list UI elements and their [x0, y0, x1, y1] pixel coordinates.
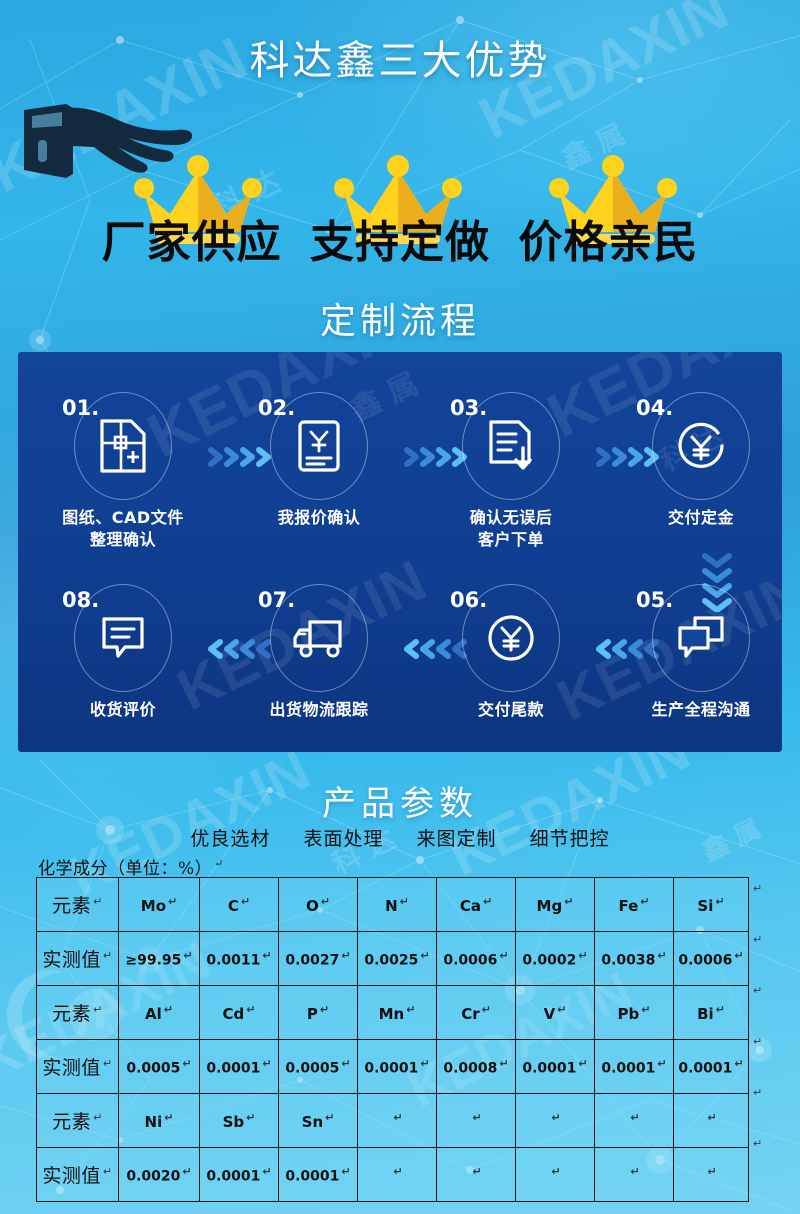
pilcrow-mark: ↵	[753, 1035, 762, 1048]
measured-value-cell: 0.0001↵	[674, 1040, 749, 1094]
element-cell: Si↵	[674, 878, 749, 932]
element-cell: V↵	[516, 986, 595, 1040]
table-row: 元素↵Al↵Cd↵P↵Mn↵Cr↵V↵Pb↵Bi↵	[37, 986, 749, 1040]
measured-value-cell: ≥99.95↵	[119, 932, 200, 986]
feature-tag-4: 细节把控	[530, 828, 610, 850]
yen-circle-icon	[484, 611, 538, 665]
delivery-truck-icon	[290, 614, 348, 662]
step-label: 交付尾款	[436, 699, 586, 721]
pilcrow-mark: ↵	[753, 1086, 762, 1099]
row-header-cell: 实测值↵	[37, 932, 119, 986]
element-cell: Fe↵	[595, 878, 674, 932]
pilcrow-mark: ↵	[753, 933, 762, 946]
row-header-cell: 元素↵	[37, 1094, 119, 1148]
table-row: 实测值↵0.0020↵0.0001↵0.0001↵↵↵↵↵↵	[37, 1148, 749, 1202]
pilcrow-mark: ↵	[214, 857, 224, 870]
params-section-title: 产品参数	[0, 776, 800, 825]
element-cell: Mo↵	[119, 878, 200, 932]
yen-circle-icon	[674, 419, 728, 473]
element-cell: ↵	[674, 1094, 749, 1148]
measured-value-cell: 0.0002↵	[516, 932, 595, 986]
quote-document-icon	[294, 418, 344, 474]
table-row: 实测值↵≥99.95↵0.0011↵0.0027↵0.0025↵0.0006↵0…	[37, 932, 749, 986]
chat-windows-icon	[675, 614, 727, 662]
measured-value-cell: 0.0001↵	[516, 1040, 595, 1094]
process-section-title: 定制流程	[0, 292, 800, 344]
element-cell: ↵	[358, 1094, 437, 1148]
advantage-label-1: 厂家供应	[102, 217, 282, 268]
table-body: 元素↵Mo↵C↵O↵N↵Ca↵Mg↵Fe↵Si↵实测值↵≥99.95↵0.001…	[37, 878, 749, 1202]
chemical-composition-label: 化学成分（单位：%）↵	[38, 854, 224, 879]
step-number: 03.	[450, 396, 487, 420]
measured-value-cell: ↵	[674, 1148, 749, 1202]
element-cell: Sn↵	[279, 1094, 358, 1148]
measured-value-cell: 0.0011↵	[200, 932, 279, 986]
process-step-07: 07. 出货物流跟踪	[244, 584, 394, 721]
element-cell: N↵	[358, 878, 437, 932]
element-cell: C↵	[200, 878, 279, 932]
element-cell: Ca↵	[437, 878, 516, 932]
measured-value-cell: ↵	[595, 1148, 674, 1202]
advantage-label-2: 支持定做	[310, 217, 490, 268]
step-label: 图纸、CAD文件 整理确认	[48, 507, 198, 550]
review-bubble-icon	[97, 613, 149, 663]
element-cell: Mn↵	[358, 986, 437, 1040]
process-step-01: 01. 图纸、CAD文件 整理确认	[48, 392, 198, 550]
measured-value-cell: 0.0001↵	[200, 1040, 279, 1094]
step-number: 04.	[636, 396, 673, 420]
advantages-row: 厂家供应 支持定做 价格亲民	[0, 206, 800, 270]
feature-tag-2: 表面处理	[303, 828, 383, 850]
step-label: 确认无误后 客户下单	[436, 507, 586, 550]
step-label: 收货评价	[48, 699, 198, 721]
row-header-cell: 实测值↵	[37, 1040, 119, 1094]
measured-value-cell: 0.0005↵	[279, 1040, 358, 1094]
step-label: 出货物流跟踪	[244, 699, 394, 721]
measured-value-cell: 0.0020↵	[119, 1148, 200, 1202]
document-download-icon	[485, 418, 537, 474]
measured-value-cell: 0.0006↵	[674, 932, 749, 986]
element-cell: Bi↵	[674, 986, 749, 1040]
row-header-cell: 元素↵	[37, 878, 119, 932]
measured-value-cell: ↵	[437, 1148, 516, 1202]
step-label: 交付定金	[626, 507, 776, 529]
element-cell: O↵	[279, 878, 358, 932]
element-cell: ↵	[437, 1094, 516, 1148]
process-step-08: 08. 收货评价	[48, 584, 198, 721]
element-cell: ↵	[595, 1094, 674, 1148]
process-step-02: 02. 我报价确认	[244, 392, 394, 529]
element-cell: Pb↵	[595, 986, 674, 1040]
pilcrow-mark: ↵	[753, 882, 762, 895]
process-panel: KEDAXIN 鑫 属 KEDAXIN 科 达 KEDAXIN KEDAXIN …	[18, 352, 782, 752]
step-number: 05.	[636, 588, 673, 612]
feature-tags-row: 优良选材 表面处理 来图定制 细节把控	[0, 824, 800, 851]
step-number: 08.	[62, 588, 99, 612]
step-number: 02.	[258, 396, 295, 420]
step-label: 我报价确认	[244, 507, 394, 529]
measured-value-cell: 0.0025↵	[358, 932, 437, 986]
measured-value-cell: 0.0005↵	[119, 1040, 200, 1094]
measured-value-cell: ↵	[516, 1148, 595, 1202]
table-row: 元素↵Ni↵Sb↵Sn↵↵↵↵↵↵	[37, 1094, 749, 1148]
step-number: 07.	[258, 588, 295, 612]
measured-value-cell: 0.0027↵	[279, 932, 358, 986]
page-title: 科达鑫三大优势	[0, 28, 800, 86]
table-row: 元素↵Mo↵C↵O↵N↵Ca↵Mg↵Fe↵Si↵	[37, 878, 749, 932]
row-header-cell: 元素↵	[37, 986, 119, 1040]
element-cell: Sb↵	[200, 1094, 279, 1148]
feature-tag-3: 来图定制	[417, 828, 497, 850]
chemical-composition-table: 元素↵Mo↵C↵O↵N↵Ca↵Mg↵Fe↵Si↵实测值↵≥99.95↵0.001…	[36, 877, 749, 1202]
pilcrow-mark: ↵	[753, 984, 762, 997]
measured-value-cell: 0.0001↵	[200, 1148, 279, 1202]
step-number: 01.	[62, 396, 99, 420]
process-step-06: 06. 交付尾款	[436, 584, 586, 721]
blueprint-file-icon	[97, 417, 149, 475]
step-label: 生产全程沟通	[626, 699, 776, 721]
measured-value-cell: 0.0001↵	[279, 1148, 358, 1202]
advantage-label-3: 价格亲民	[518, 217, 698, 268]
element-cell: Al↵	[119, 986, 200, 1040]
element-cell: Cd↵	[200, 986, 279, 1040]
element-cell: P↵	[279, 986, 358, 1040]
process-step-05: 05. 生产全程沟通	[626, 584, 776, 721]
element-cell: Mg↵	[516, 878, 595, 932]
process-step-03: 03. 确认无误后 客户下单	[436, 392, 586, 550]
pilcrow-mark: ↵	[753, 1137, 762, 1150]
element-cell: Cr↵	[437, 986, 516, 1040]
process-step-04: 04. 交付定金	[626, 392, 776, 529]
element-cell: Ni↵	[119, 1094, 200, 1148]
measured-value-cell: 0.0001↵	[358, 1040, 437, 1094]
step-number: 06.	[450, 588, 487, 612]
table-row: 实测值↵0.0005↵0.0001↵0.0005↵0.0001↵0.0008↵0…	[37, 1040, 749, 1094]
measured-value-cell: 0.0001↵	[595, 1040, 674, 1094]
measured-value-cell: 0.0006↵	[437, 932, 516, 986]
measured-value-cell: 0.0038↵	[595, 932, 674, 986]
feature-tag-1: 优良选材	[190, 828, 270, 850]
row-header-cell: 实测值↵	[37, 1148, 119, 1202]
measured-value-cell: ↵	[358, 1148, 437, 1202]
measured-value-cell: 0.0008↵	[437, 1040, 516, 1094]
element-cell: ↵	[516, 1094, 595, 1148]
